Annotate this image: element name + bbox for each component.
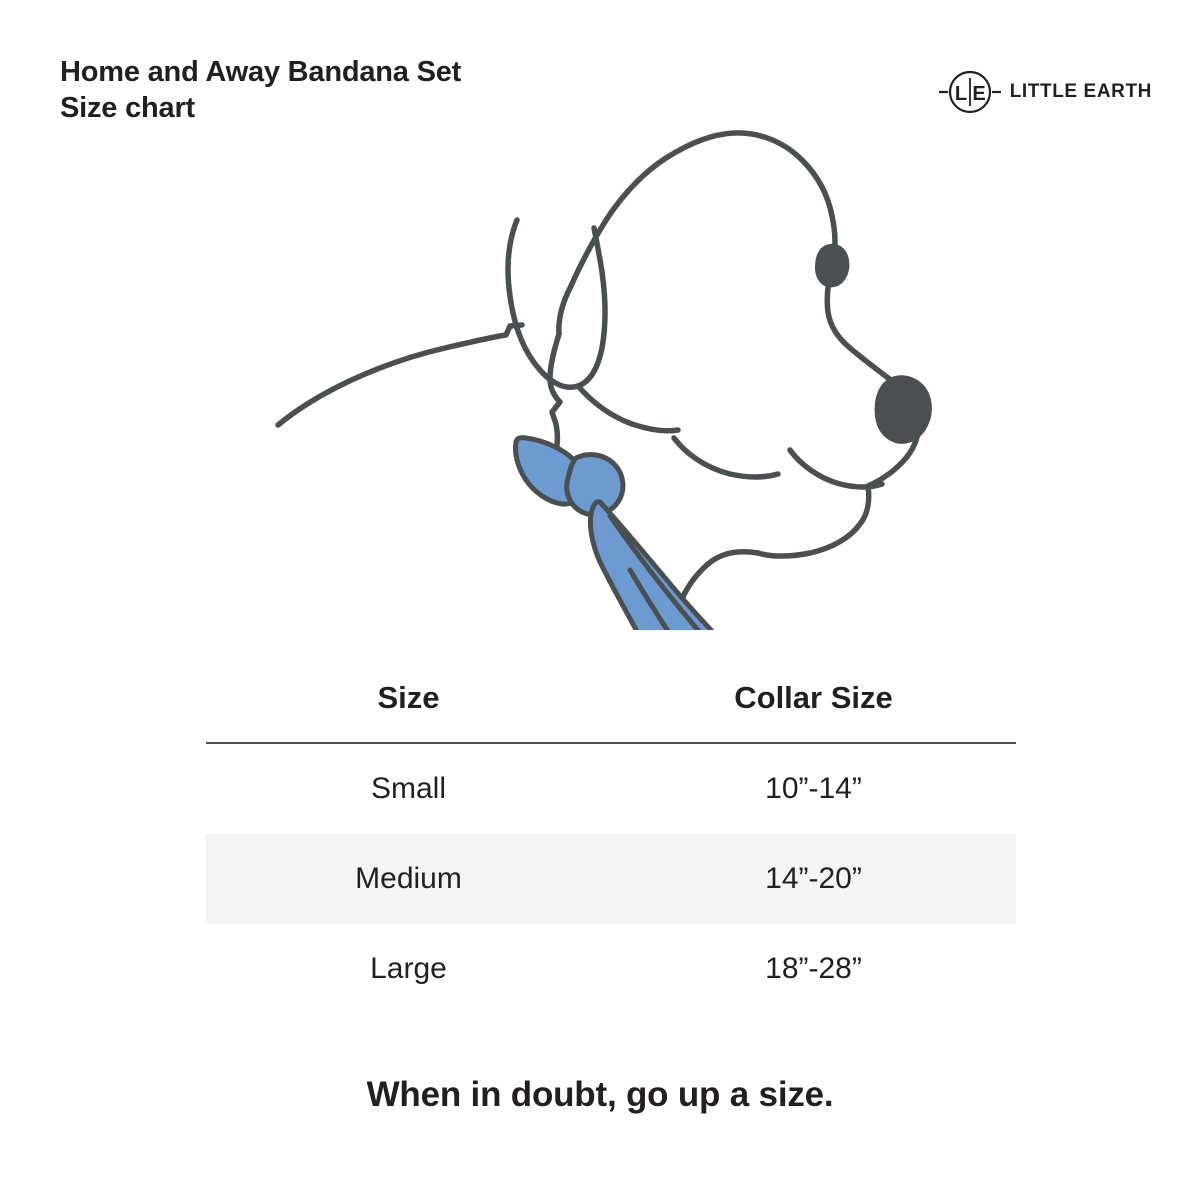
dog-mouth-line xyxy=(790,450,882,487)
dog-nose xyxy=(876,376,931,443)
cell-size: Medium xyxy=(206,834,611,924)
brand-logo: L E LITTLE EARTH xyxy=(939,68,1152,116)
dog-chin-jaw xyxy=(758,486,869,556)
size-chart-page: Home and Away Bandana Set Size chart L E… xyxy=(0,0,1200,1200)
page-title: Home and Away Bandana Set Size chart xyxy=(60,54,700,126)
dog-back-line xyxy=(278,325,522,425)
dog-forehead-bridge xyxy=(827,216,888,378)
svg-text:L: L xyxy=(955,83,967,105)
table-row: Large 18”-28” xyxy=(206,924,1016,1014)
dog-eye xyxy=(816,245,848,287)
footer-note: When in doubt, go up a size. xyxy=(0,1075,1200,1115)
svg-text:E: E xyxy=(972,83,985,105)
table-header-row: Size Collar Size xyxy=(206,662,1016,734)
brand-name-label: LITTLE EARTH xyxy=(1010,81,1152,103)
little-earth-monogram-icon: L E xyxy=(939,69,1001,115)
cell-collar: 10”-14” xyxy=(611,744,1016,834)
cell-size: Small xyxy=(206,744,611,834)
size-table: Size Collar Size Small 10”-14” Medium 14… xyxy=(206,662,1016,1014)
dog-neck-front xyxy=(678,552,758,608)
page-title-line-1: Home and Away Bandana Set xyxy=(60,54,700,90)
dog-bandana-illustration xyxy=(270,120,950,630)
table-row: Small 10”-14” xyxy=(206,744,1016,834)
cell-collar: 18”-28” xyxy=(611,924,1016,1014)
cell-collar: 14”-20” xyxy=(611,834,1016,924)
cell-size: Large xyxy=(206,924,611,1014)
dog-cheek-line xyxy=(578,386,678,431)
dog-throat-line xyxy=(674,438,778,477)
column-header-size: Size xyxy=(206,662,611,734)
column-header-collar: Collar Size xyxy=(611,662,1016,734)
dog-head-left-contour xyxy=(550,334,560,450)
dog-skull-outline xyxy=(559,133,832,334)
table-row: Medium 14”-20” xyxy=(206,834,1016,924)
